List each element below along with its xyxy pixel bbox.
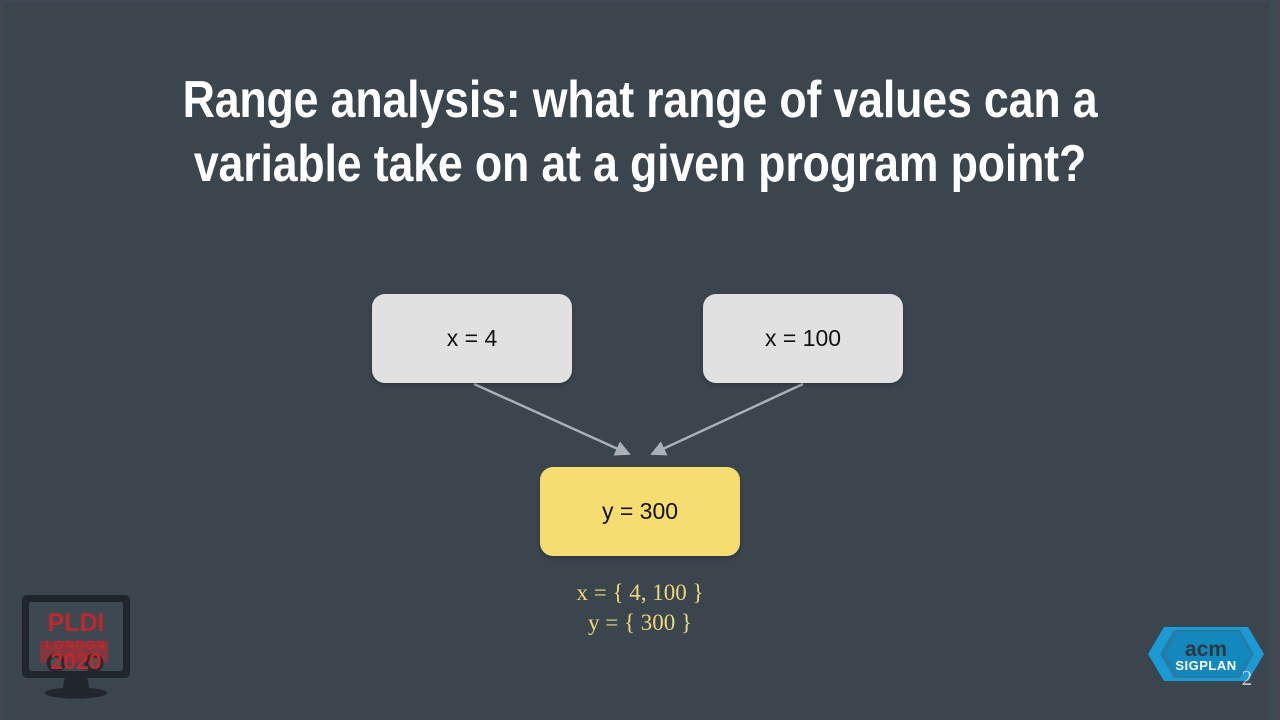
slide-left-edge xyxy=(0,0,5,720)
pldi-logo-wordmark: PLDI xyxy=(48,609,105,637)
slide-page-number: 2 xyxy=(1234,666,1260,691)
cfg-edge-x100-to-y300 xyxy=(652,384,803,454)
slide-right-edge xyxy=(1266,0,1280,720)
sigplan-logo-sigplan: SIGPLAN xyxy=(1175,658,1236,673)
cfg-node-y-assign-300: y = 300 xyxy=(540,467,740,556)
slide-top-edge xyxy=(0,0,1280,3)
cfg-node-label: x = 100 xyxy=(765,325,841,352)
cfg-edge-x4-to-y300 xyxy=(474,384,629,454)
slide-canvas: Range analysis: what range of values can… xyxy=(0,0,1280,720)
cfg-node-x-assign-4: x = 4 xyxy=(372,294,572,383)
cfg-node-label: x = 4 xyxy=(447,325,498,352)
dataflow-fact-x: x = { 4, 100 } xyxy=(440,578,840,608)
dataflow-fact-y: y = { 300 } xyxy=(440,608,840,638)
pldi-logo-year: 2020 xyxy=(50,648,101,674)
pldi-london-2020-logo: PLDI LONDON 2020 xyxy=(20,589,132,701)
cfg-node-label: y = 300 xyxy=(602,498,678,525)
slide-title: Range analysis: what range of values can… xyxy=(145,68,1136,196)
cfg-node-x-assign-100: x = 100 xyxy=(703,294,903,383)
dataflow-facts-annotation: x = { 4, 100 } y = { 300 } xyxy=(440,578,840,638)
